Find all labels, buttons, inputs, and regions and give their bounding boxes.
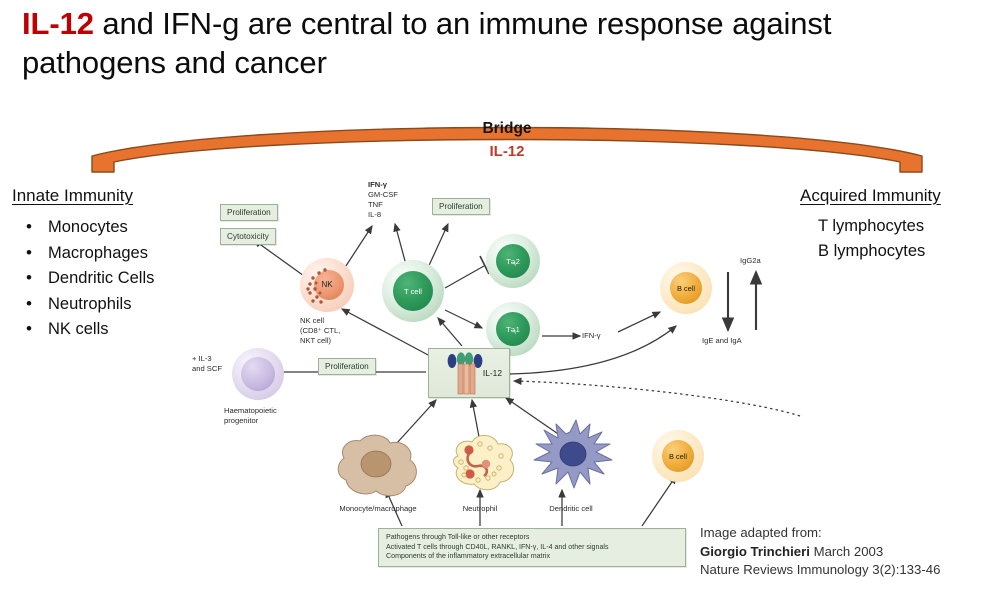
ige-iga-label: IgE and IgA — [702, 336, 742, 345]
progenitor-caption-line2: progenitor — [224, 416, 258, 425]
bridge-banner: Bridge IL-12 — [88, 112, 926, 174]
dendritic-cell — [524, 418, 618, 500]
list-item: Monocytes — [18, 215, 154, 241]
th1-cell-label: Tᶕ1 — [486, 325, 540, 334]
progenitor-nucleus — [241, 357, 275, 391]
progenitor-caption-line1: Haematopoietic — [224, 406, 277, 415]
th2-cell: Tᶕ2 — [486, 234, 540, 288]
nk-caption-line1: NK cell — [300, 316, 324, 325]
signal-line: Activated T cells through CD40L, RANKL, … — [386, 543, 678, 553]
cytotoxicity-box: Cytotoxicity — [220, 228, 276, 245]
title-highlight: IL-12 — [22, 6, 94, 41]
b-cell-bottom-label: B cell — [652, 452, 704, 461]
citation: Image adapted from: Giorgio Trinchieri M… — [700, 524, 940, 580]
citation-author: Giorgio Trinchieri — [700, 544, 810, 559]
nk-caption-line2: (CD8⁺ CTL, — [300, 326, 340, 335]
proliferation-box-progenitor: Proliferation — [318, 358, 376, 375]
proliferation-box-nk: Proliferation — [220, 204, 278, 221]
il12-label: IL-12 — [483, 368, 502, 378]
t-cell: T cell — [382, 260, 444, 322]
ifng-arrow-label: IFN-γ — [582, 331, 601, 340]
monocyte-caption: Monocyte/macrophage — [320, 504, 436, 513]
t-cell-label: T cell — [382, 287, 444, 296]
citation-line1: Image adapted from: — [700, 524, 940, 543]
igg2a-label: IgG2a — [740, 256, 761, 265]
citation-date: March 2003 — [810, 544, 883, 559]
nk-cell-label: NK — [300, 280, 354, 289]
haematopoietic-progenitor-cell — [232, 348, 284, 400]
citation-line2: Giorgio Trinchieri March 2003 — [700, 543, 940, 562]
list-item: NK cells — [18, 317, 154, 343]
page-title: IL-12 and IFN-g are central to an immune… — [22, 4, 982, 83]
title-rest: and IFN-g are central to an immune respo… — [22, 6, 831, 80]
slide-canvas: IL-12 and IFN-g are central to an immune… — [0, 0, 1003, 594]
neutrophil-caption: Neutrophil — [438, 504, 522, 513]
acquired-immunity-heading: Acquired Immunity — [800, 186, 941, 206]
acquired-immunity-list: T lymphocytes B lymphocytes — [818, 214, 925, 264]
il3-scf-label-line2: and SCF — [192, 364, 222, 373]
signal-line: Pathogens through Toll-like or other rec… — [386, 533, 678, 543]
list-item: Macrophages — [18, 241, 154, 267]
dendritic-caption: Dendritic cell — [526, 504, 616, 513]
b-cell-top: B cell — [660, 262, 712, 314]
cytokine-ifng-label: IFN-γ — [368, 180, 387, 189]
bridge-label: Bridge — [88, 120, 926, 138]
list-item: B lymphocytes — [818, 239, 925, 264]
neutrophil-cell — [444, 430, 518, 498]
cytokine-tnf-label: TNF — [368, 200, 383, 209]
b-cell-bottom: B cell — [652, 430, 704, 482]
th2-cell-label: Tᶕ2 — [486, 257, 540, 266]
monocyte-macrophage-cell — [328, 428, 426, 500]
innate-immunity-heading: Innate Immunity — [12, 186, 133, 206]
list-item: T lymphocytes — [818, 214, 925, 239]
nk-caption-line3: NKT cell) — [300, 336, 331, 345]
proliferation-box-tcell: Proliferation — [432, 198, 490, 215]
b-cell-top-label: B cell — [660, 284, 712, 293]
list-item: Dendritic Cells — [18, 266, 154, 292]
signals-box: Pathogens through Toll-like or other rec… — [378, 528, 686, 567]
cytokine-gmcsf-label: GM-CSF — [368, 190, 398, 199]
il12-box: IL-12 — [428, 348, 510, 398]
bridge-sublabel: IL-12 — [88, 143, 926, 160]
citation-line3: Nature Reviews Immunology 3(2):133-46 — [700, 561, 940, 580]
nk-cell: NK — [300, 258, 354, 312]
innate-immunity-list: Monocytes Macrophages Dendritic Cells Ne… — [18, 215, 154, 343]
cytokine-il8-label: IL-8 — [368, 210, 381, 219]
il3-scf-label-line1: + IL-3 — [192, 354, 212, 363]
list-item: Neutrophils — [18, 292, 154, 318]
signal-line: Components of the inflammatory extracell… — [386, 552, 678, 562]
